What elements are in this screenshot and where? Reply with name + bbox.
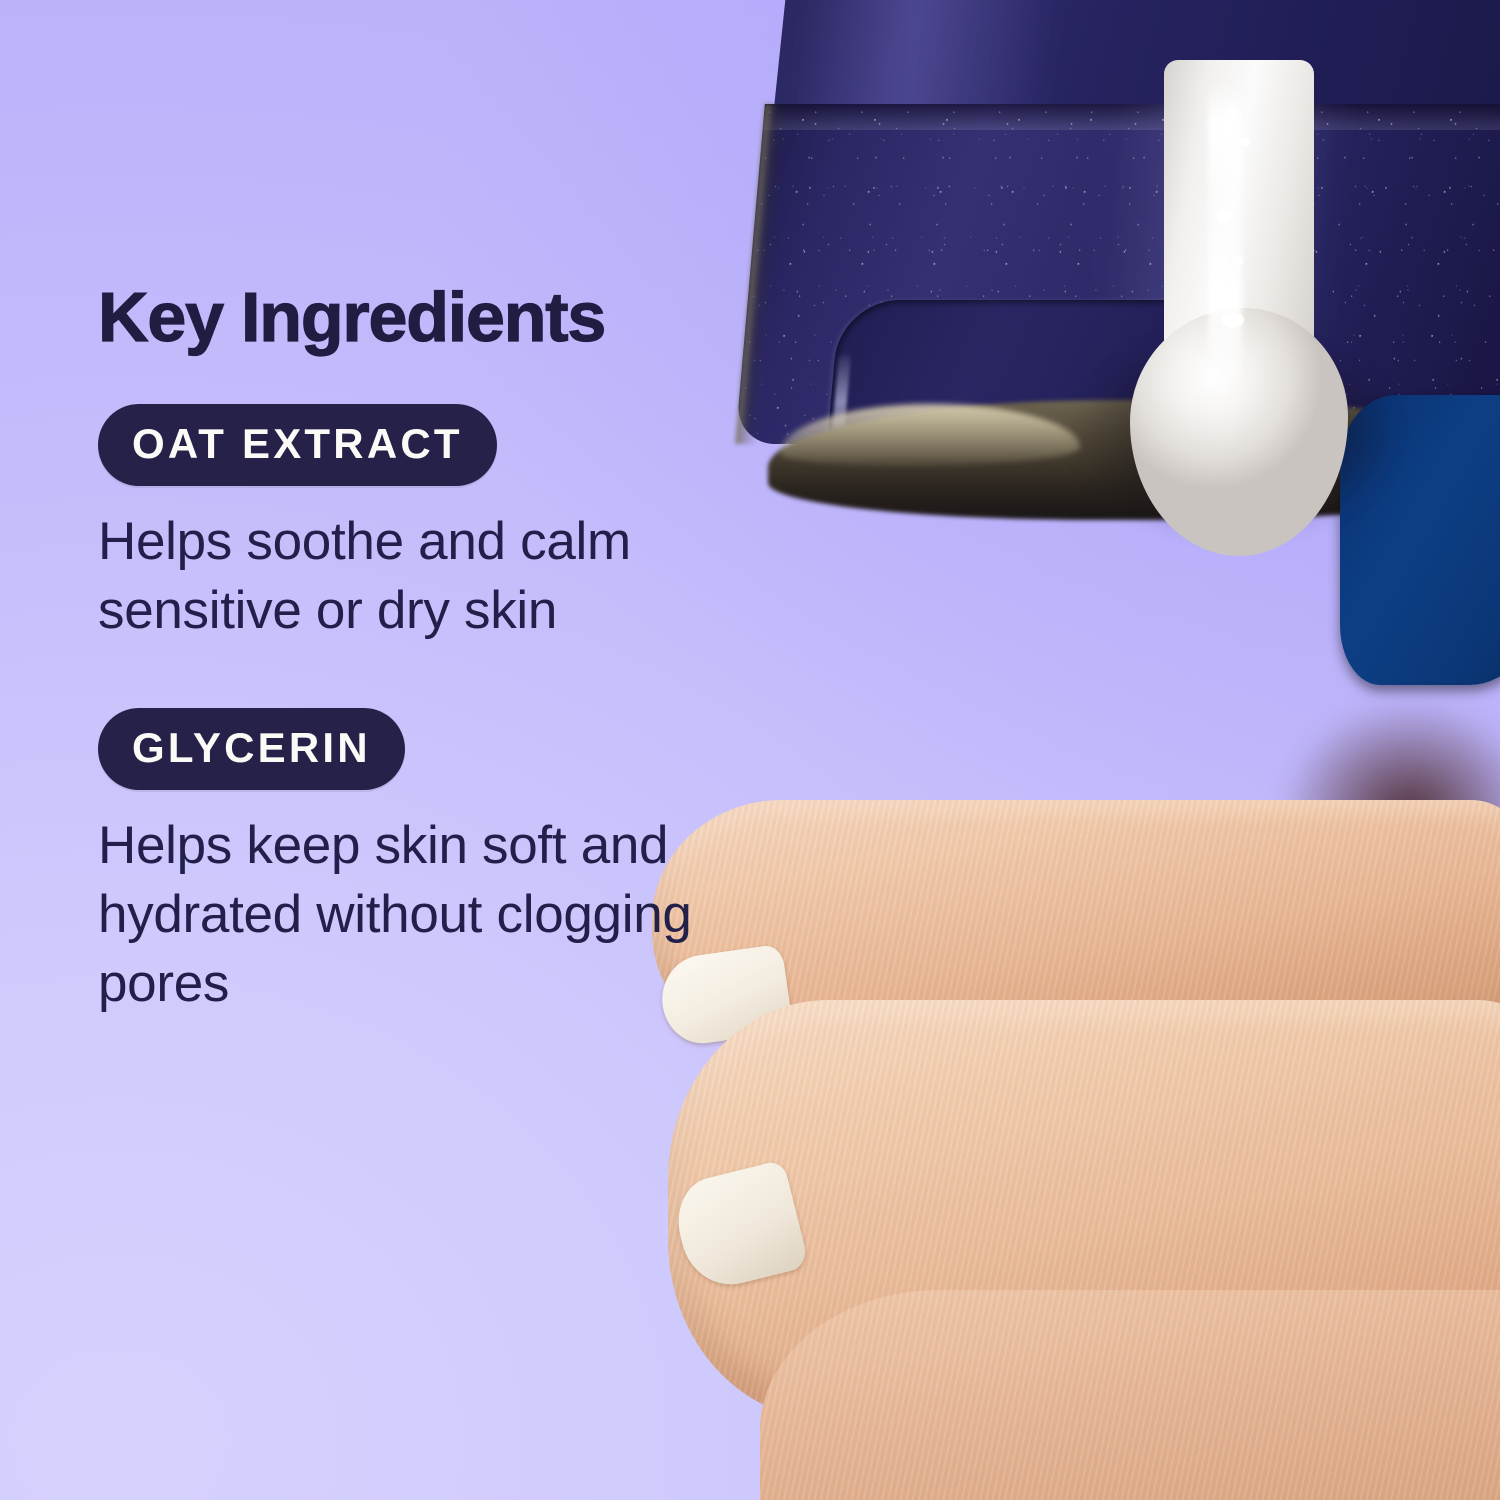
product-detail-image: Key Ingredients OAT EXTRACT Helps soothe… <box>0 0 1500 1500</box>
ingredient-badge-oat-extract: OAT EXTRACT <box>98 404 497 486</box>
hand-lower-mass <box>760 1290 1500 1500</box>
gel-sparkle <box>1224 106 1238 118</box>
key-ingredients-panel: Key Ingredients OAT EXTRACT Helps soothe… <box>98 282 778 1018</box>
skin-texture <box>760 1290 1500 1500</box>
gel-sparkle <box>1240 138 1250 147</box>
ingredient-description-oat-extract: Helps soothe and calm sensitive or dry s… <box>98 508 738 646</box>
product-gel-drop <box>1112 60 1362 560</box>
gel-sparkle <box>1222 312 1244 328</box>
gel-sparkle <box>1216 210 1232 223</box>
page-title: Key Ingredients <box>98 282 778 352</box>
gel-sparkle <box>1232 256 1243 266</box>
ingredient-badge-glycerin: GLYCERIN <box>98 708 405 790</box>
ingredient-description-glycerin: Helps keep skin soft and hydrated withou… <box>98 812 758 1019</box>
gel-specular-highlight <box>1208 78 1242 458</box>
